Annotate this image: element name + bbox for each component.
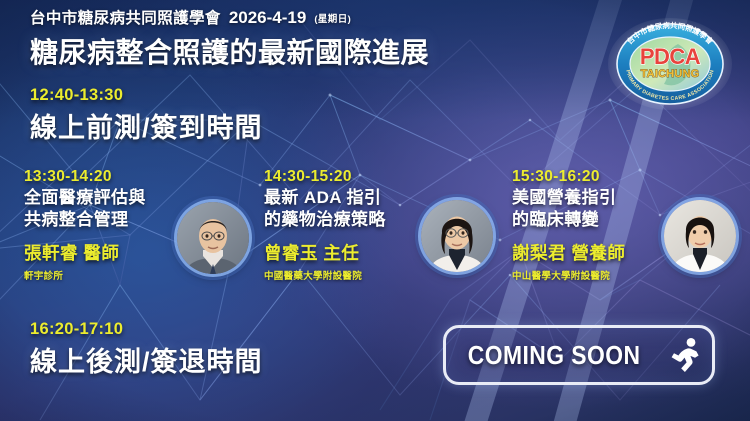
session-1-title-line1: 全面醫療評估與 — [24, 187, 146, 209]
coming-soon-badge[interactable]: COMING SOON — [443, 325, 715, 385]
session-2-title-line1: 最新 ADA 指引 — [264, 187, 386, 209]
event-weekday: (星期日) — [314, 11, 351, 25]
logo-icon: 台中市糖尿病共同照護學會 PRIMARY DIABETES CARE ASSOC… — [606, 14, 734, 110]
speaker-sessions: 13:30-14:20 全面醫療評估與 共病整合管理 張軒睿 醫師 軒宇診所 — [0, 168, 750, 308]
organizer-name: 台中市糖尿病共同照護學會 — [30, 6, 221, 28]
speaker-photo-2 — [421, 200, 493, 272]
session-closing-time: 16:20-17:10 — [30, 320, 263, 339]
session-card-3: 15:30-16:20 美國營養指引 的臨床轉變 謝梨君 營養師 中山醫學大學附… — [512, 168, 750, 308]
session-closing: 16:20-17:10 線上後測/簽退時間 — [30, 320, 263, 379]
session-3-speaker-name: 謝梨君 營養師 — [512, 240, 625, 265]
speaker-photo-3 — [664, 200, 736, 272]
poster-header: 台中市糖尿病共同照護學會 2026-4-19 (星期日) 糖尿病整合照護的最新國… — [30, 6, 429, 71]
session-2-title-line2: 的藥物治療策略 — [264, 209, 386, 231]
avatar — [421, 200, 493, 272]
event-poster: 台中市糖尿病共同照護學會 2026-4-19 (星期日) 糖尿病整合照護的最新國… — [0, 0, 750, 421]
organizer-line: 台中市糖尿病共同照護學會 2026-4-19 (星期日) — [30, 6, 429, 28]
page-title: 糖尿病整合照護的最新國際進展 — [30, 31, 429, 71]
session-3-time: 15:30-16:20 — [512, 168, 625, 186]
session-2-time: 14:30-15:20 — [264, 168, 386, 186]
session-2-speaker-name: 曾睿玉 主任 — [264, 240, 386, 265]
session-2-affiliation: 中國醫藥大學附設醫院 — [264, 268, 386, 282]
event-date: 2026-4-19 — [229, 8, 307, 28]
session-opening-title: 線上前測/簽到時間 — [30, 106, 263, 145]
session-1-title-line2: 共病整合管理 — [24, 209, 146, 231]
session-1-time: 13:30-14:20 — [24, 168, 146, 186]
session-3-affiliation: 中山醫學大學附設醫院 — [512, 268, 625, 282]
logo-acronym: PDCA — [640, 44, 701, 69]
session-card-1: 13:30-14:20 全面醫療評估與 共病整合管理 張軒睿 醫師 軒宇診所 — [24, 168, 274, 308]
speaker-photo-1 — [177, 202, 249, 274]
session-3-title-line2: 的臨床轉變 — [512, 209, 625, 231]
coming-soon-label: COMING SOON — [468, 340, 641, 371]
session-card-2: 14:30-15:20 最新 ADA 指引 的藥物治療策略 曾睿玉 主任 中國醫… — [264, 168, 514, 308]
session-1-affiliation: 軒宇診所 — [24, 268, 146, 282]
logo-city: TAICHUNG — [641, 68, 700, 80]
session-1-speaker-name: 張軒睿 醫師 — [24, 240, 146, 265]
session-closing-title: 線上後測/簽退時間 — [30, 340, 263, 379]
session-opening: 12:40-13:30 線上前測/簽到時間 — [30, 86, 263, 145]
avatar — [664, 200, 736, 272]
avatar — [177, 202, 249, 274]
running-person-icon — [668, 337, 702, 373]
session-3-title-line1: 美國營養指引 — [512, 187, 625, 209]
pdca-taichung-logo: 台中市糖尿病共同照護學會 PRIMARY DIABETES CARE ASSOC… — [606, 14, 734, 110]
session-opening-time: 12:40-13:30 — [30, 86, 263, 105]
